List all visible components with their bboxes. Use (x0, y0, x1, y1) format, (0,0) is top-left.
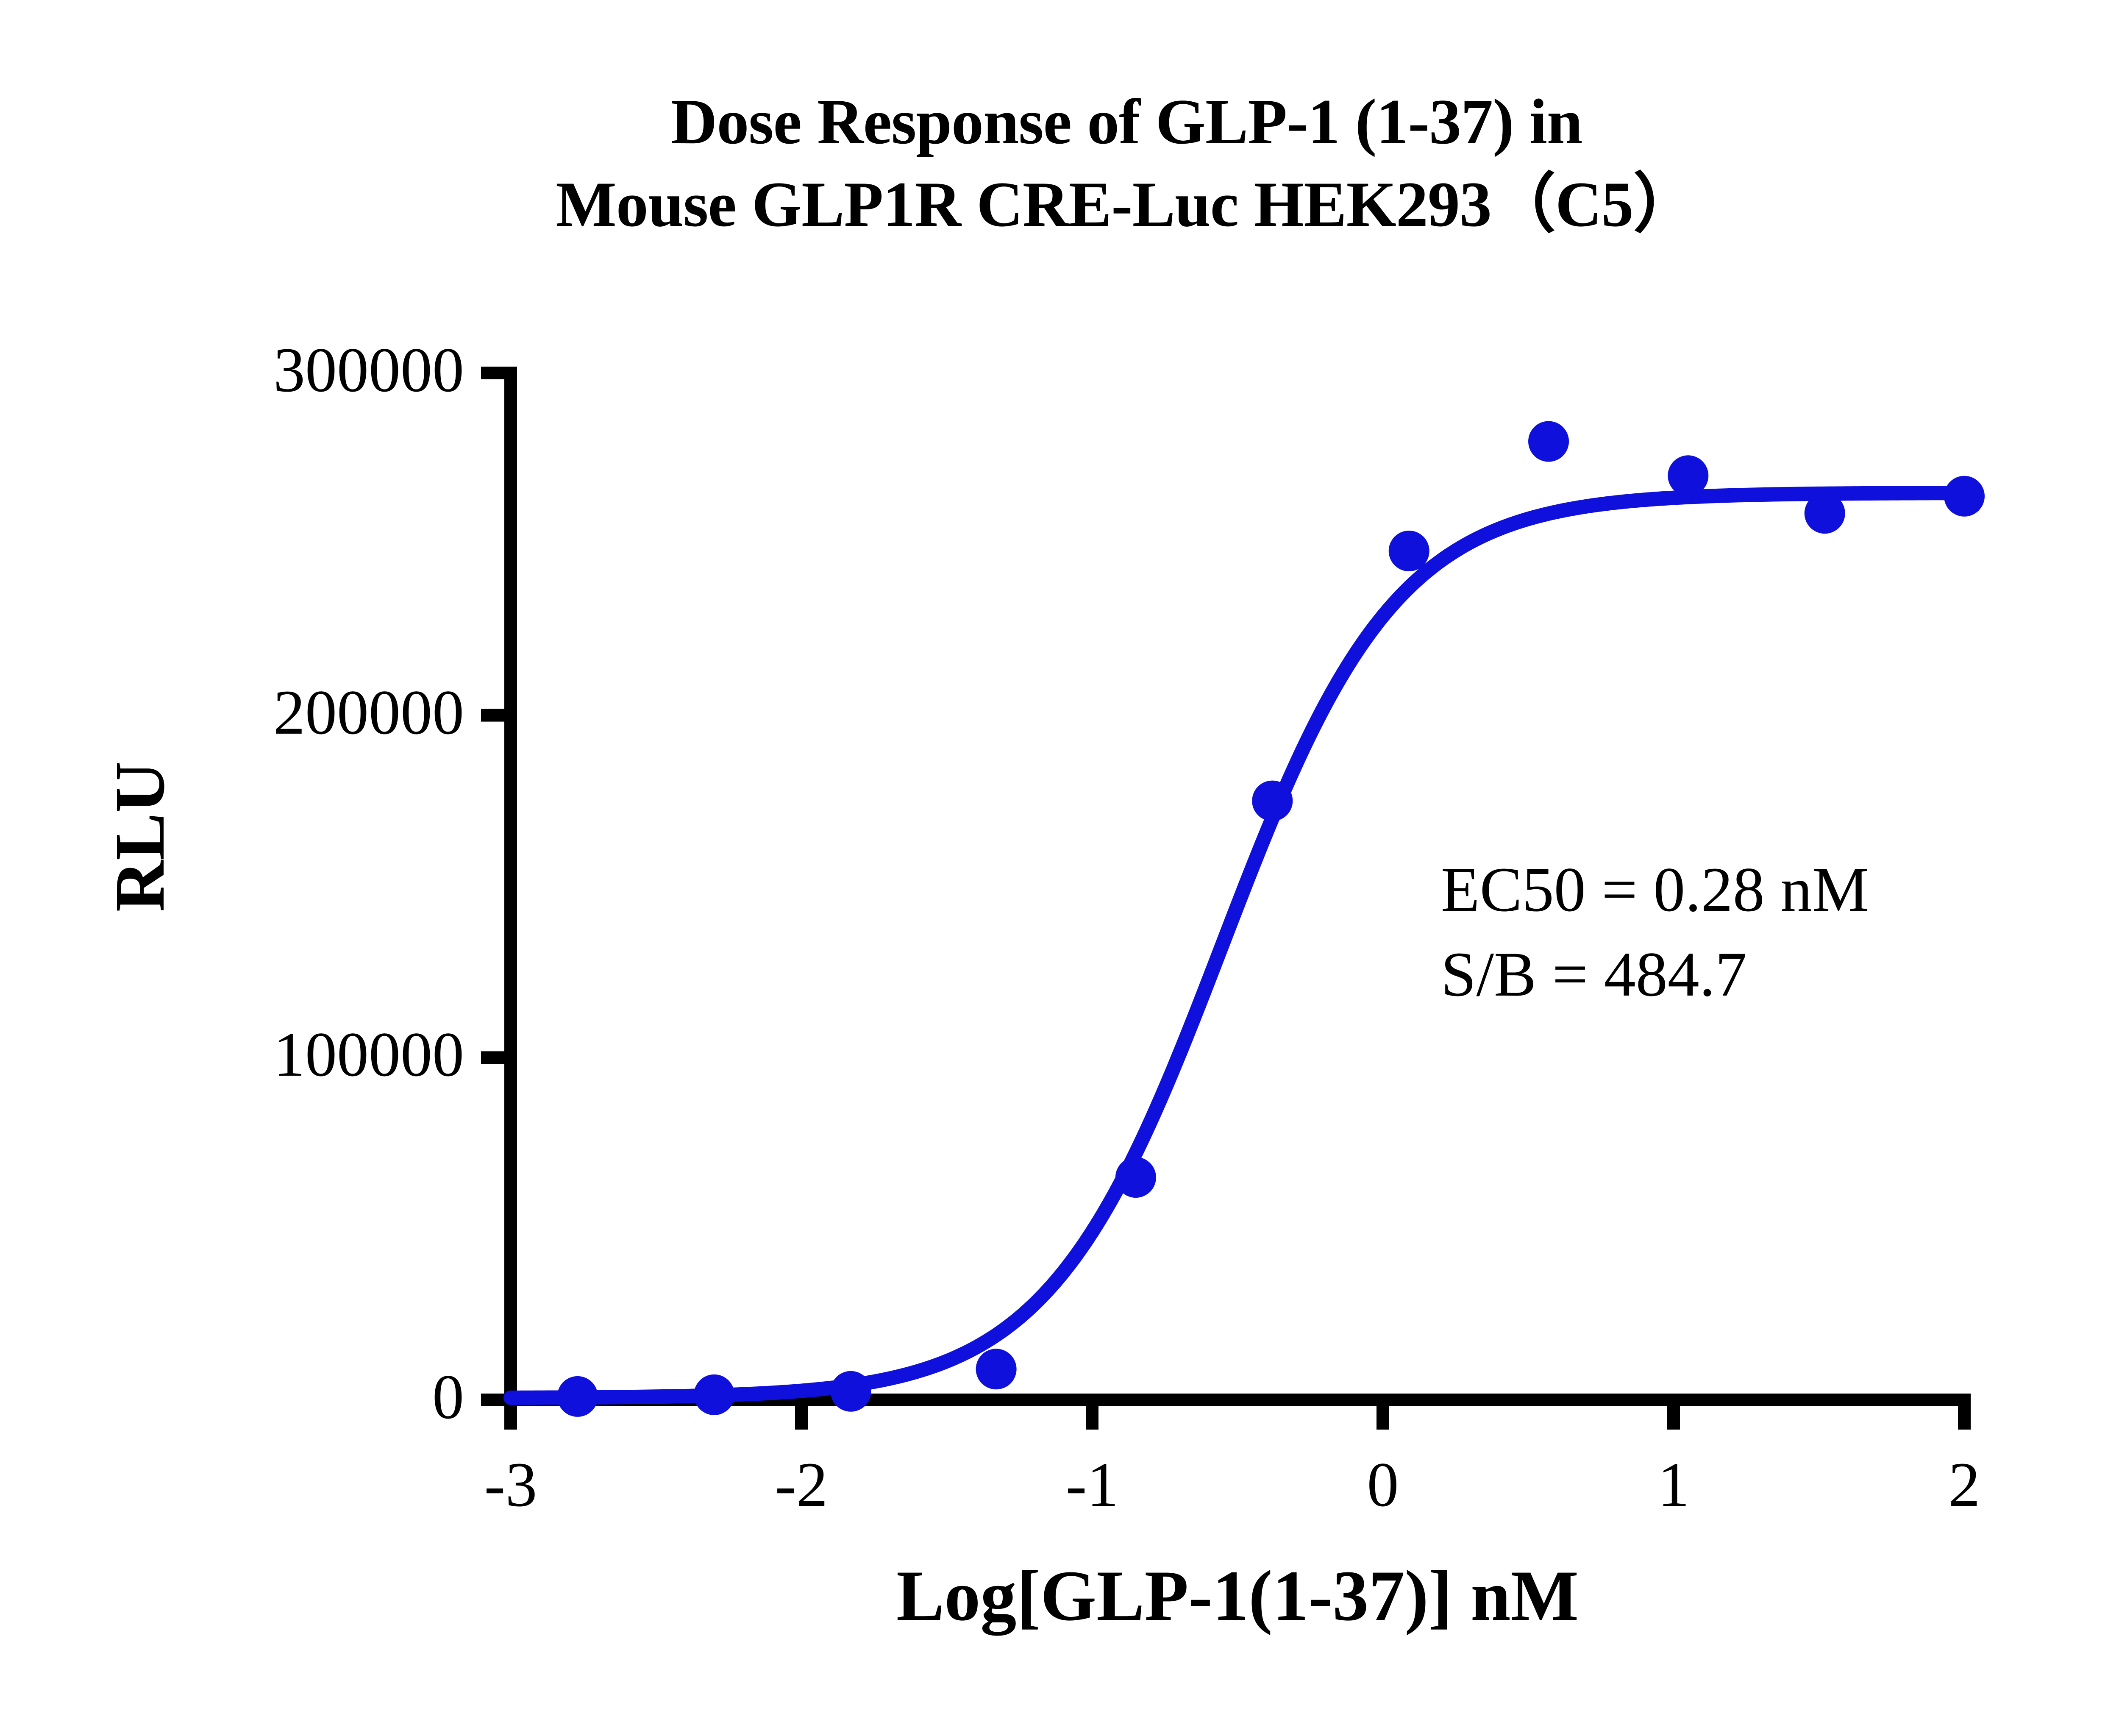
data-point (976, 1349, 1017, 1389)
data-point (831, 1371, 871, 1412)
y-tick-label: 200000 (273, 681, 464, 744)
x-tick-label: 0 (1298, 1453, 1468, 1516)
x-tick-label: 2 (1880, 1453, 2049, 1516)
y-tick-label: 0 (432, 1365, 464, 1429)
data-point (694, 1374, 734, 1415)
x-tick-label: -2 (717, 1453, 886, 1516)
data-point (1944, 476, 1985, 517)
data-point (1252, 781, 1293, 821)
x-axis-title: Log[GLP-1(1-37)] nM (511, 1560, 1964, 1632)
y-tick-label: 300000 (273, 338, 464, 402)
data-point (557, 1376, 598, 1417)
data-point (1389, 531, 1429, 571)
y-axis-title: RLU (104, 722, 175, 951)
fit-annotations: EC50 = 0.28 nM S/B = 484.7 (1441, 848, 1869, 1017)
sb-annotation: S/B = 484.7 (1441, 932, 1869, 1017)
x-tick-label: -3 (426, 1453, 595, 1516)
data-point (1805, 493, 1845, 534)
y-tick-label: 100000 (273, 1023, 464, 1086)
chart-figure: Dose Response of GLP-1 (1-37) in Mouse G… (0, 0, 2119, 1736)
data-point (1115, 1157, 1156, 1198)
ec50-annotation: EC50 = 0.28 nM (1441, 848, 1869, 932)
x-tick-label: -1 (1007, 1453, 1177, 1516)
data-point (1528, 421, 1569, 462)
data-point (1668, 455, 1708, 496)
x-tick-label: 1 (1589, 1453, 1758, 1516)
